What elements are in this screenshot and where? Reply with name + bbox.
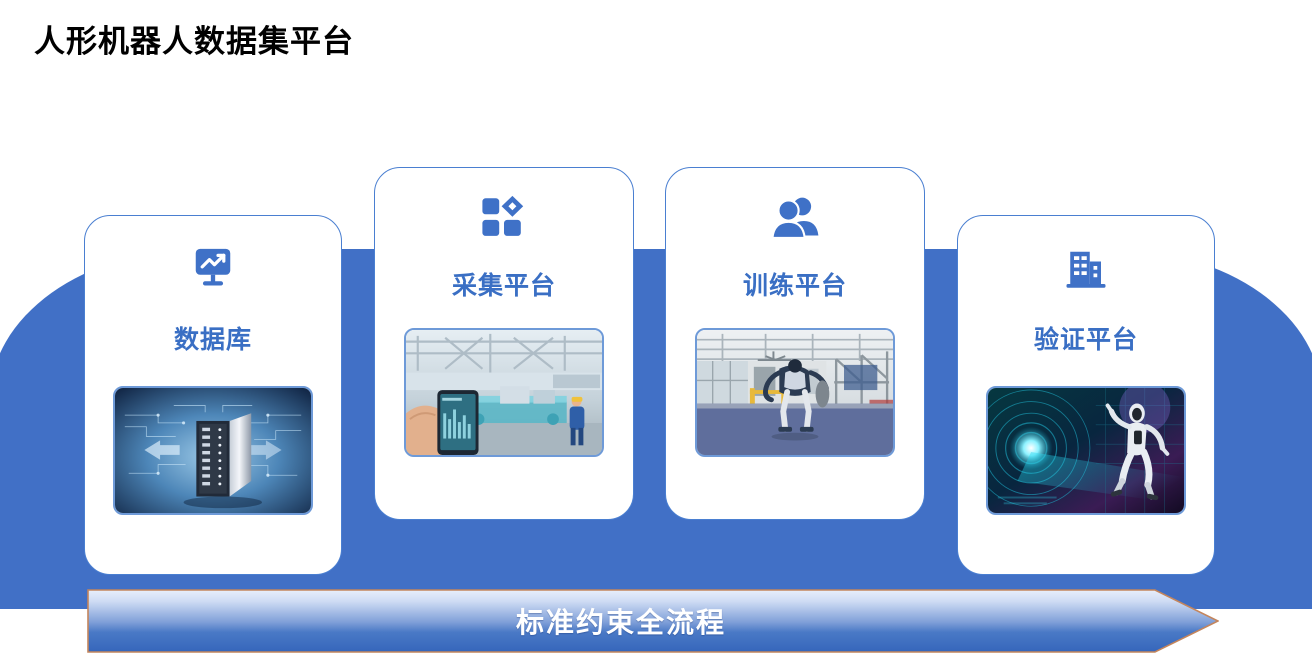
monitor-chart-icon bbox=[185, 242, 241, 296]
card-title: 验证平台 bbox=[1034, 320, 1138, 356]
card-training[interactable]: 训练平台 bbox=[665, 167, 925, 520]
process-banner[interactable]: 标准约束全流程 bbox=[87, 589, 1219, 653]
card-title: 训练平台 bbox=[743, 266, 847, 302]
process-banner-label: 标准约束全流程 bbox=[87, 589, 1155, 653]
card-thumbnail-collection bbox=[404, 328, 604, 457]
four-blocks-icon bbox=[476, 190, 532, 244]
slide-canvas: 人形机器人数据集平台 数据库 bbox=[0, 0, 1312, 667]
card-collection[interactable]: 采集平台 bbox=[374, 167, 634, 520]
card-thumbnail-database bbox=[113, 386, 313, 515]
page-title: 人形机器人数据集平台 bbox=[34, 16, 354, 61]
card-title: 采集平台 bbox=[452, 266, 556, 302]
card-database[interactable]: 数据库 bbox=[84, 215, 342, 575]
card-thumbnail-validation bbox=[986, 386, 1186, 515]
card-title: 数据库 bbox=[174, 320, 252, 356]
building-icon bbox=[1058, 242, 1114, 296]
users-icon bbox=[767, 190, 823, 244]
card-thumbnail-training bbox=[695, 328, 895, 457]
card-validation[interactable]: 验证平台 bbox=[957, 215, 1215, 575]
